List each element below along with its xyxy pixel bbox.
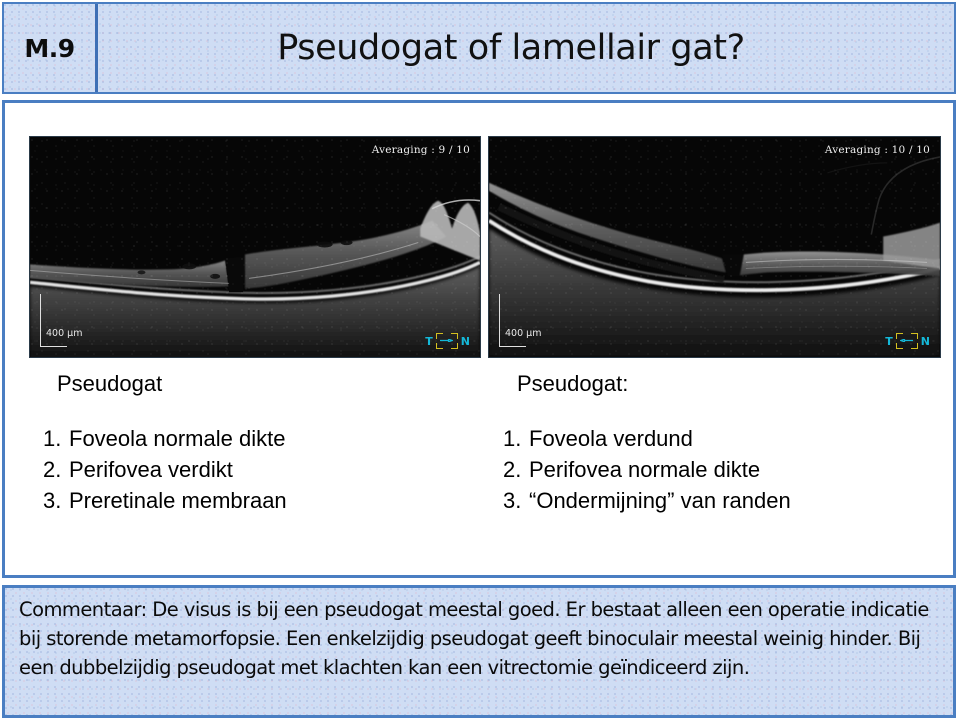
orientation-bracket-left [436, 333, 458, 349]
orientation-bracket-right [896, 333, 918, 349]
findings-list-left: 1. Foveola normale dikte 2. Perifovea ve… [35, 423, 465, 516]
list-item-number: 2. [35, 454, 69, 485]
scale-bar-rule-left [40, 294, 67, 347]
list-item-text: Perifovea verdikt [69, 454, 233, 485]
oct-b-scan-right-graphic [489, 137, 940, 358]
main-content-panel: Averaging : 9 / 10 400 µm T N [2, 100, 956, 578]
arrow-left-icon-right [900, 339, 913, 342]
averaging-label-right: Averaging : 10 / 10 [825, 144, 930, 156]
orientation-temporal-left: T [425, 335, 433, 348]
list-item: 3. “Ondermijning” van randen [495, 485, 935, 516]
list-item-text: Preretinale membraan [69, 485, 287, 516]
findings-heading-left: Pseudogat [57, 371, 465, 397]
findings-column-right: Pseudogat: 1. Foveola verdund 2. Perifov… [495, 371, 935, 516]
list-item-number: 3. [495, 485, 529, 516]
page-title: Pseudogat of lamellair gat? [277, 28, 745, 68]
list-item: 2. Perifovea normale dikte [495, 454, 935, 485]
averaging-label-left: Averaging : 9 / 10 [372, 144, 470, 156]
slide-code-cell: M.9 [4, 4, 98, 92]
list-item-text: Foveola normale dikte [69, 423, 285, 454]
findings-column-left: Pseudogat 1. Foveola normale dikte 2. Pe… [35, 371, 465, 516]
commentary-box: Commentaar: De visus is bij een pseudoga… [2, 585, 956, 718]
list-item: 3. Preretinale membraan [35, 485, 465, 516]
slide-code: M.9 [24, 34, 74, 63]
findings-heading-right: Pseudogat: [517, 371, 935, 397]
list-item-number: 1. [35, 423, 69, 454]
scale-bar-rule-right [499, 294, 526, 347]
commentary-text: Commentaar: De visus is bij een pseudoga… [19, 595, 941, 682]
tn-orientation-icon-left: T N [425, 333, 470, 349]
arrow-right-icon-left [440, 339, 453, 342]
orientation-nasal-left: N [461, 335, 470, 348]
list-item-text: “Ondermijning” van randen [529, 485, 791, 516]
list-item: 1. Foveola verdund [495, 423, 935, 454]
orientation-nasal-right: N [921, 335, 930, 348]
scale-bar-caption-right: 400 µm [505, 328, 541, 339]
list-item-text: Foveola verdund [529, 423, 693, 454]
slide-header: M.9 Pseudogat of lamellair gat? [2, 2, 956, 94]
findings-list-right: 1. Foveola verdund 2. Perifovea normale … [495, 423, 935, 516]
list-item-text: Perifovea normale dikte [529, 454, 760, 485]
list-item: 2. Perifovea verdikt [35, 454, 465, 485]
oct-scan-left[interactable]: Averaging : 9 / 10 400 µm T N [29, 136, 481, 358]
scale-bar-caption-left: 400 µm [46, 328, 82, 339]
list-item: 1. Foveola normale dikte [35, 423, 465, 454]
oct-b-scan-left-graphic [30, 137, 480, 358]
oct-scan-right[interactable]: Averaging : 10 / 10 400 µm T N [488, 136, 941, 358]
list-item-number: 1. [495, 423, 529, 454]
list-item-number: 3. [35, 485, 69, 516]
oct-scan-row: Averaging : 9 / 10 400 µm T N [29, 136, 941, 358]
tn-orientation-icon-right: T N [885, 333, 930, 349]
list-item-number: 2. [495, 454, 529, 485]
slide-title-cell: Pseudogat of lamellair gat? [98, 4, 954, 92]
orientation-temporal-right: T [885, 335, 893, 348]
